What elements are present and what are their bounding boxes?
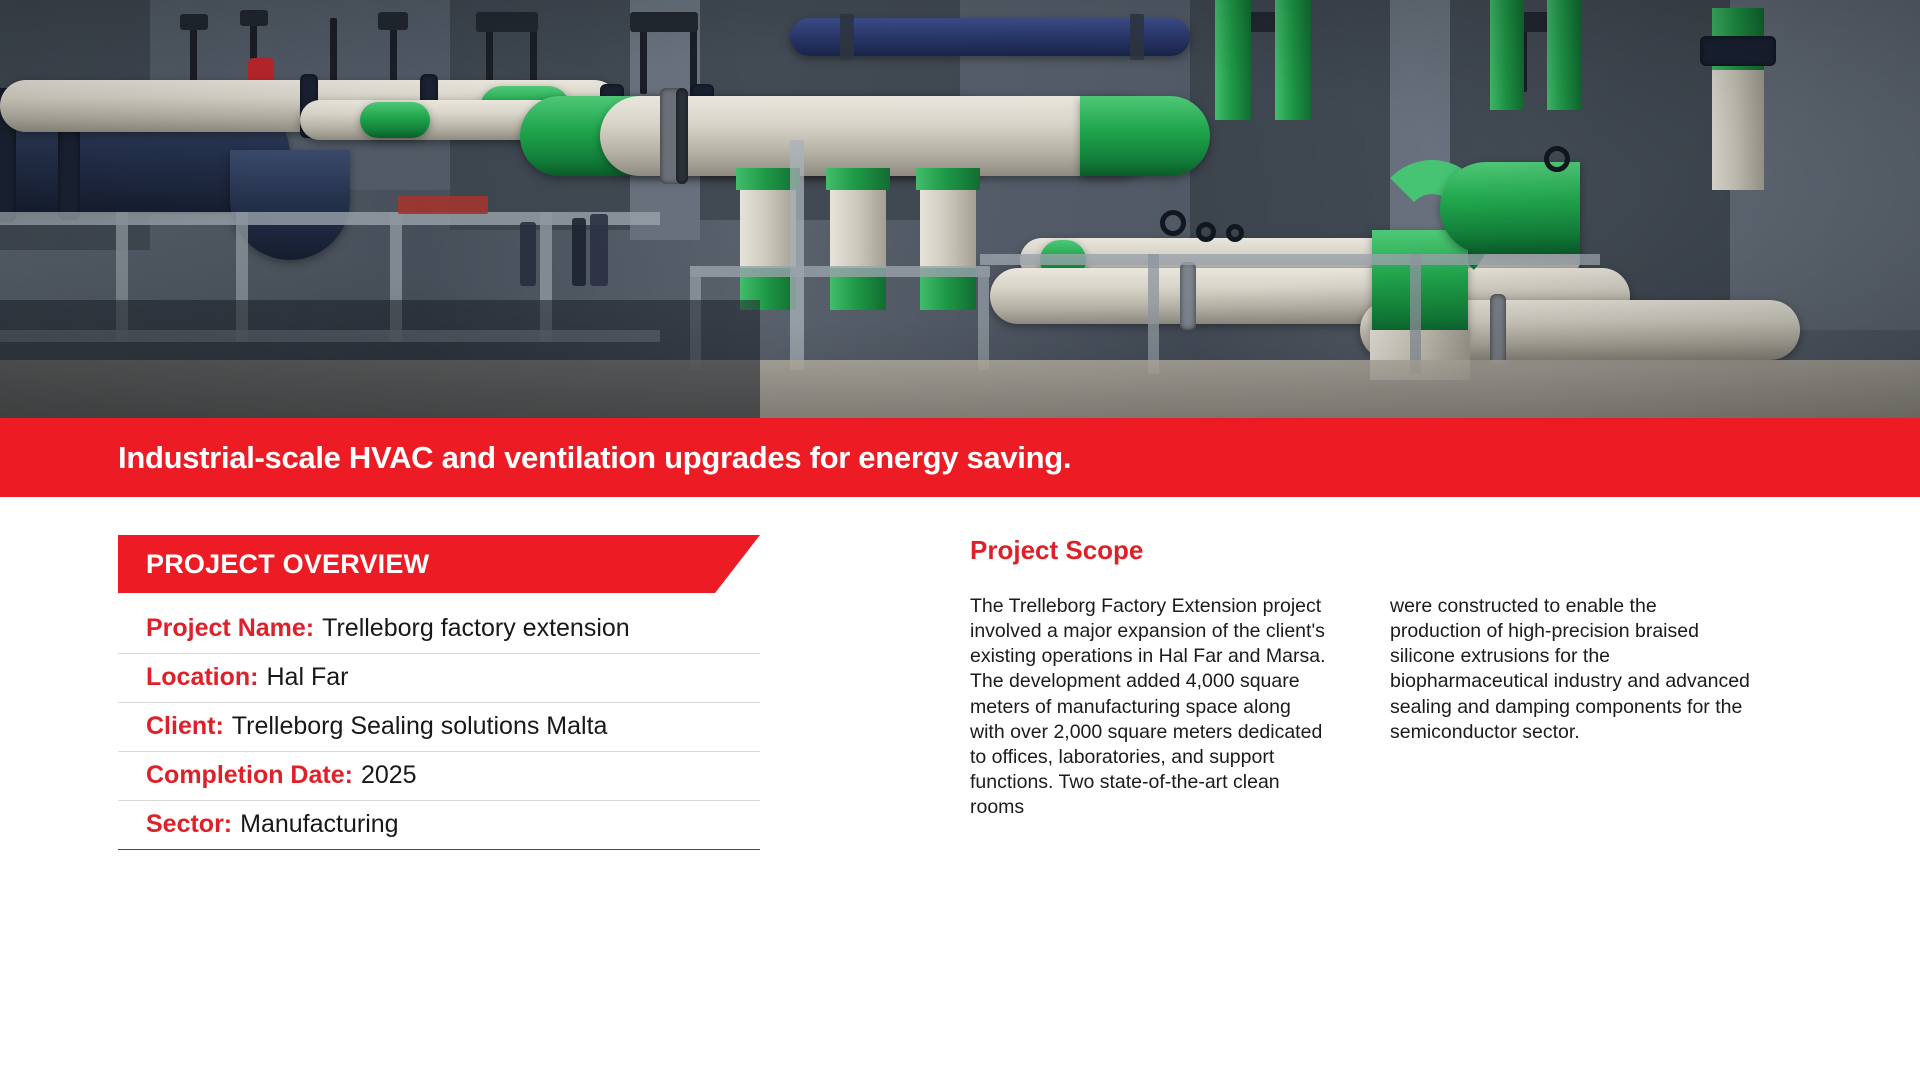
fact-value-sector: Manufacturing	[240, 810, 398, 839]
project-overview-banner: PROJECT OVERVIEW	[118, 535, 760, 593]
fact-value-location: Hal Far	[267, 663, 349, 692]
project-facts-table: Project Name: Trelleborg factory extensi…	[118, 605, 760, 850]
scope-paragraph-right: were constructed to enable the productio…	[1390, 594, 1750, 745]
project-scope-columns: The Trelleborg Factory Extension project…	[970, 594, 1800, 820]
fact-key-client: Client:	[146, 712, 224, 741]
scope-paragraph-left: The Trelleborg Factory Extension project…	[970, 594, 1330, 820]
scope-column-left: The Trelleborg Factory Extension project…	[970, 594, 1330, 820]
fact-key-sector: Sector:	[146, 810, 232, 839]
headline-text: Industrial-scale HVAC and ventilation up…	[118, 440, 1071, 476]
hero-vignette	[0, 0, 1920, 418]
table-row: Location: Hal Far	[118, 654, 760, 703]
fact-key-location: Location:	[146, 663, 259, 692]
fact-value-completion-date: 2025	[361, 761, 417, 790]
table-row: Sector: Manufacturing	[118, 801, 760, 850]
table-row: Project Name: Trelleborg factory extensi…	[118, 605, 760, 654]
project-overview-title: PROJECT OVERVIEW	[146, 549, 429, 580]
project-scope-title: Project Scope	[970, 535, 1800, 566]
fact-key-project-name: Project Name:	[146, 614, 314, 643]
table-row: Client: Trelleborg Sealing solutions Mal…	[118, 703, 760, 752]
fact-key-completion-date: Completion Date:	[146, 761, 353, 790]
hero-image	[0, 0, 1920, 418]
project-overview-panel: PROJECT OVERVIEW Project Name: Trellebor…	[118, 535, 760, 850]
scope-column-right: were constructed to enable the productio…	[1390, 594, 1750, 820]
fact-value-project-name: Trelleborg factory extension	[322, 614, 630, 643]
project-case-study-page: Industrial-scale HVAC and ventilation up…	[0, 0, 1920, 1080]
table-row: Completion Date: 2025	[118, 752, 760, 801]
project-scope-panel: Project Scope The Trelleborg Factory Ext…	[970, 535, 1800, 820]
headline-banner: Industrial-scale HVAC and ventilation up…	[0, 418, 1920, 497]
fact-value-client: Trelleborg Sealing solutions Malta	[232, 712, 608, 741]
